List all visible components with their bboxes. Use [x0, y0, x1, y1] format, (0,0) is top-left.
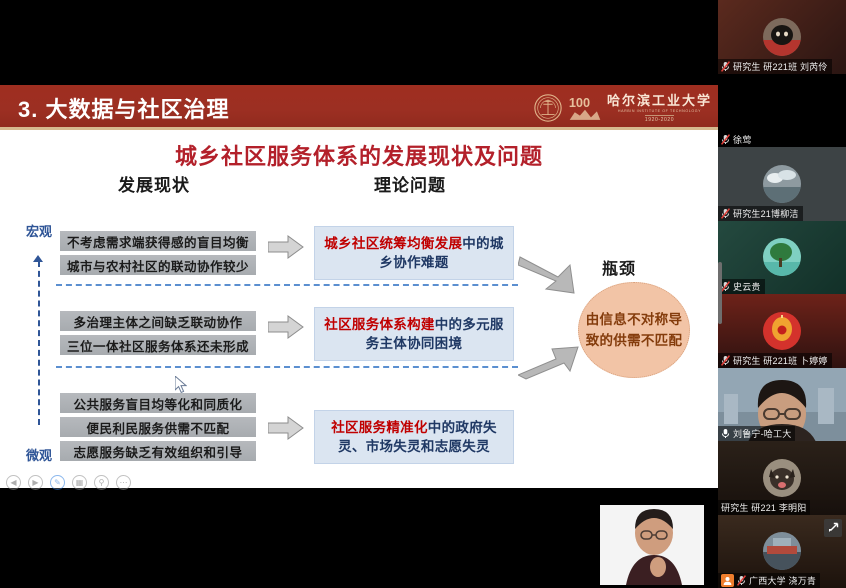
zoom-meeting-window: 3. 大数据与社区治理 100 哈尔滨工业大学 HARBIN INST: [0, 0, 846, 588]
popout-arrow-icon[interactable]: [824, 519, 842, 537]
anniversary-100-icon: 100: [568, 94, 602, 122]
status-item: 三位一体社区服务体系还未形成: [60, 335, 256, 355]
presentation-toolbar[interactable]: ◀ ▶ ✎ ▦ ⚲ ⋯: [6, 475, 131, 490]
avatar: [763, 459, 801, 497]
avatar: [763, 18, 801, 56]
participant-tile[interactable]: 研究生 研221班 卜婷婷: [718, 294, 846, 368]
bottleneck-text: 由信息不对称导致的供需不匹配: [579, 309, 689, 351]
flow-arrow-icon: [268, 315, 304, 339]
mic-muted-icon: [721, 134, 730, 145]
self-view-video[interactable]: [600, 505, 704, 585]
status-item: 城市与农村社区的联动协作较少: [60, 255, 256, 275]
next-slide-icon[interactable]: ▶: [28, 475, 43, 490]
participant-namebar: 徐莺: [718, 132, 755, 147]
theory-emphasis: 城乡社区统筹均衡发展: [324, 236, 462, 251]
flow-arrow-icon: [268, 416, 304, 440]
participant-namebar: 广西大学 浇万青: [718, 573, 820, 588]
axis-label-micro: 微观: [22, 449, 56, 463]
theory-box: 社区服务精准化中的政府失灵、市场失灵和志愿失灵: [314, 410, 514, 464]
anniversary-years: 1920-2020: [645, 115, 674, 123]
theory-box: 城乡社区统筹均衡发展中的城乡协作难题: [314, 226, 514, 280]
column-head-theory: 理论问题: [374, 171, 446, 196]
group-divider: [56, 284, 518, 286]
participant-namebar: 史云贵: [718, 279, 765, 294]
university-logo: 100 哈尔滨工业大学 HARBIN INSTITUTE OF TECHNOLO…: [533, 90, 712, 126]
participant-name: 广西大学 浇万青: [749, 574, 816, 587]
participant-name: 刘鲁宁-哈工大: [733, 427, 791, 440]
participant-name: 研究生 研221班 刘芮伶: [733, 60, 828, 73]
hit-seal-icon: [533, 93, 563, 123]
host-badge-icon: [721, 574, 734, 587]
slide-header-bar: 3. 大数据与社区治理 100 哈尔滨工业大学 HARBIN INST: [0, 85, 718, 130]
participant-tile[interactable]: 研究生 研221班 刘芮伶: [718, 0, 846, 74]
pen-annotate-icon[interactable]: ✎: [50, 475, 65, 490]
converge-arrow-bottom-icon: [518, 341, 584, 381]
avatar: [763, 532, 801, 570]
mic-muted-icon: [737, 575, 746, 586]
svg-text:100: 100: [569, 95, 590, 110]
axis-dashed-line: [38, 261, 40, 425]
mic-muted-icon: [721, 355, 730, 366]
group-divider: [56, 366, 518, 368]
mic-muted-icon: [721, 208, 730, 219]
status-item: 便民利民服务供需不匹配: [60, 417, 256, 437]
participant-namebar: 研究生 研221 李明阳: [718, 500, 810, 515]
participant-name: 史云贵: [733, 280, 761, 293]
participant-video-strip[interactable]: 研究生 研221班 刘芮伶 徐莺: [718, 0, 846, 588]
more-options-icon[interactable]: ⋯: [116, 475, 131, 490]
participant-tile[interactable]: 研究生 研221 李明阳: [718, 441, 846, 515]
presentation-slide[interactable]: 3. 大数据与社区治理 100 哈尔滨工业大学 HARBIN INST: [0, 85, 718, 488]
mouse-cursor-icon: [175, 376, 187, 394]
theory-box: 社区服务体系构建中的多元服务主体协同困境: [314, 307, 514, 361]
avatar: [763, 165, 801, 203]
column-head-status: 发展现状: [118, 171, 190, 196]
avatar: [763, 238, 801, 276]
university-name-block: 哈尔滨工业大学 HARBIN INSTITUTE OF TECHNOLOGY 1…: [607, 94, 712, 123]
axis-label-macro: 宏观: [22, 225, 56, 239]
bottleneck-oval: 由信息不对称导致的供需不匹配: [578, 282, 690, 378]
participant-namebar: 研究生 研221班 刘芮伶: [718, 59, 832, 74]
status-item: 公共服务盲目均等化和同质化: [60, 393, 256, 413]
participant-tile-active-speaker[interactable]: 刘鲁宁-哈工大: [718, 368, 846, 442]
participant-tile[interactable]: 徐莺: [718, 74, 846, 148]
status-item: 多治理主体之间缺乏联动协作: [60, 311, 256, 331]
participant-namebar: 研究生 研221班 卜婷婷: [718, 353, 832, 368]
scrollbar-thumb[interactable]: [718, 262, 722, 324]
slide-thumbnails-icon[interactable]: ▦: [72, 475, 87, 490]
converge-arrow-top-icon: [518, 255, 588, 305]
shared-screen-stage[interactable]: 3. 大数据与社区治理 100 哈尔滨工业大学 HARBIN INST: [0, 0, 718, 588]
status-item: 不考虑需求端获得感的盲目均衡: [60, 231, 256, 251]
university-name-en: HARBIN INSTITUTE OF TECHNOLOGY: [618, 109, 701, 113]
mic-unmuted-icon: [721, 428, 730, 439]
participant-namebar: 刘鲁宁-哈工大: [718, 426, 795, 441]
bottleneck-heading: 瓶颈: [602, 255, 636, 279]
previous-slide-icon[interactable]: ◀: [6, 475, 21, 490]
slide-main-title: 城乡社区服务体系的发展现状及问题: [0, 139, 718, 171]
participant-list-scrollbar[interactable]: [718, 0, 722, 588]
participant-name: 徐莺: [733, 133, 751, 146]
mic-muted-icon: [721, 61, 730, 72]
flow-arrow-icon: [268, 235, 304, 259]
participant-namebar: 研究生21博柳洁: [718, 206, 803, 221]
participant-tile[interactable]: 史云贵: [718, 221, 846, 295]
participant-name: 研究生 研221班 卜婷婷: [733, 354, 828, 367]
university-name-cn: 哈尔滨工业大学: [607, 94, 712, 107]
theory-emphasis: 社区服务精准化: [331, 420, 428, 435]
participant-name: 研究生21博柳洁: [733, 207, 799, 220]
avatar: [763, 312, 801, 350]
participant-name: 研究生 研221 李明阳: [721, 501, 806, 514]
participant-tile[interactable]: 研究生21博柳洁: [718, 147, 846, 221]
participant-tile[interactable]: 广西大学 浇万青: [718, 515, 846, 588]
theory-emphasis: 社区服务体系构建: [324, 317, 434, 332]
status-item: 志愿服务缺乏有效组织和引导: [60, 441, 256, 461]
mic-muted-icon: [721, 281, 730, 292]
slide-section-title: 3. 大数据与社区治理: [18, 92, 229, 124]
zoom-icon[interactable]: ⚲: [94, 475, 109, 490]
macro-micro-axis: 宏观 微观: [22, 225, 56, 463]
